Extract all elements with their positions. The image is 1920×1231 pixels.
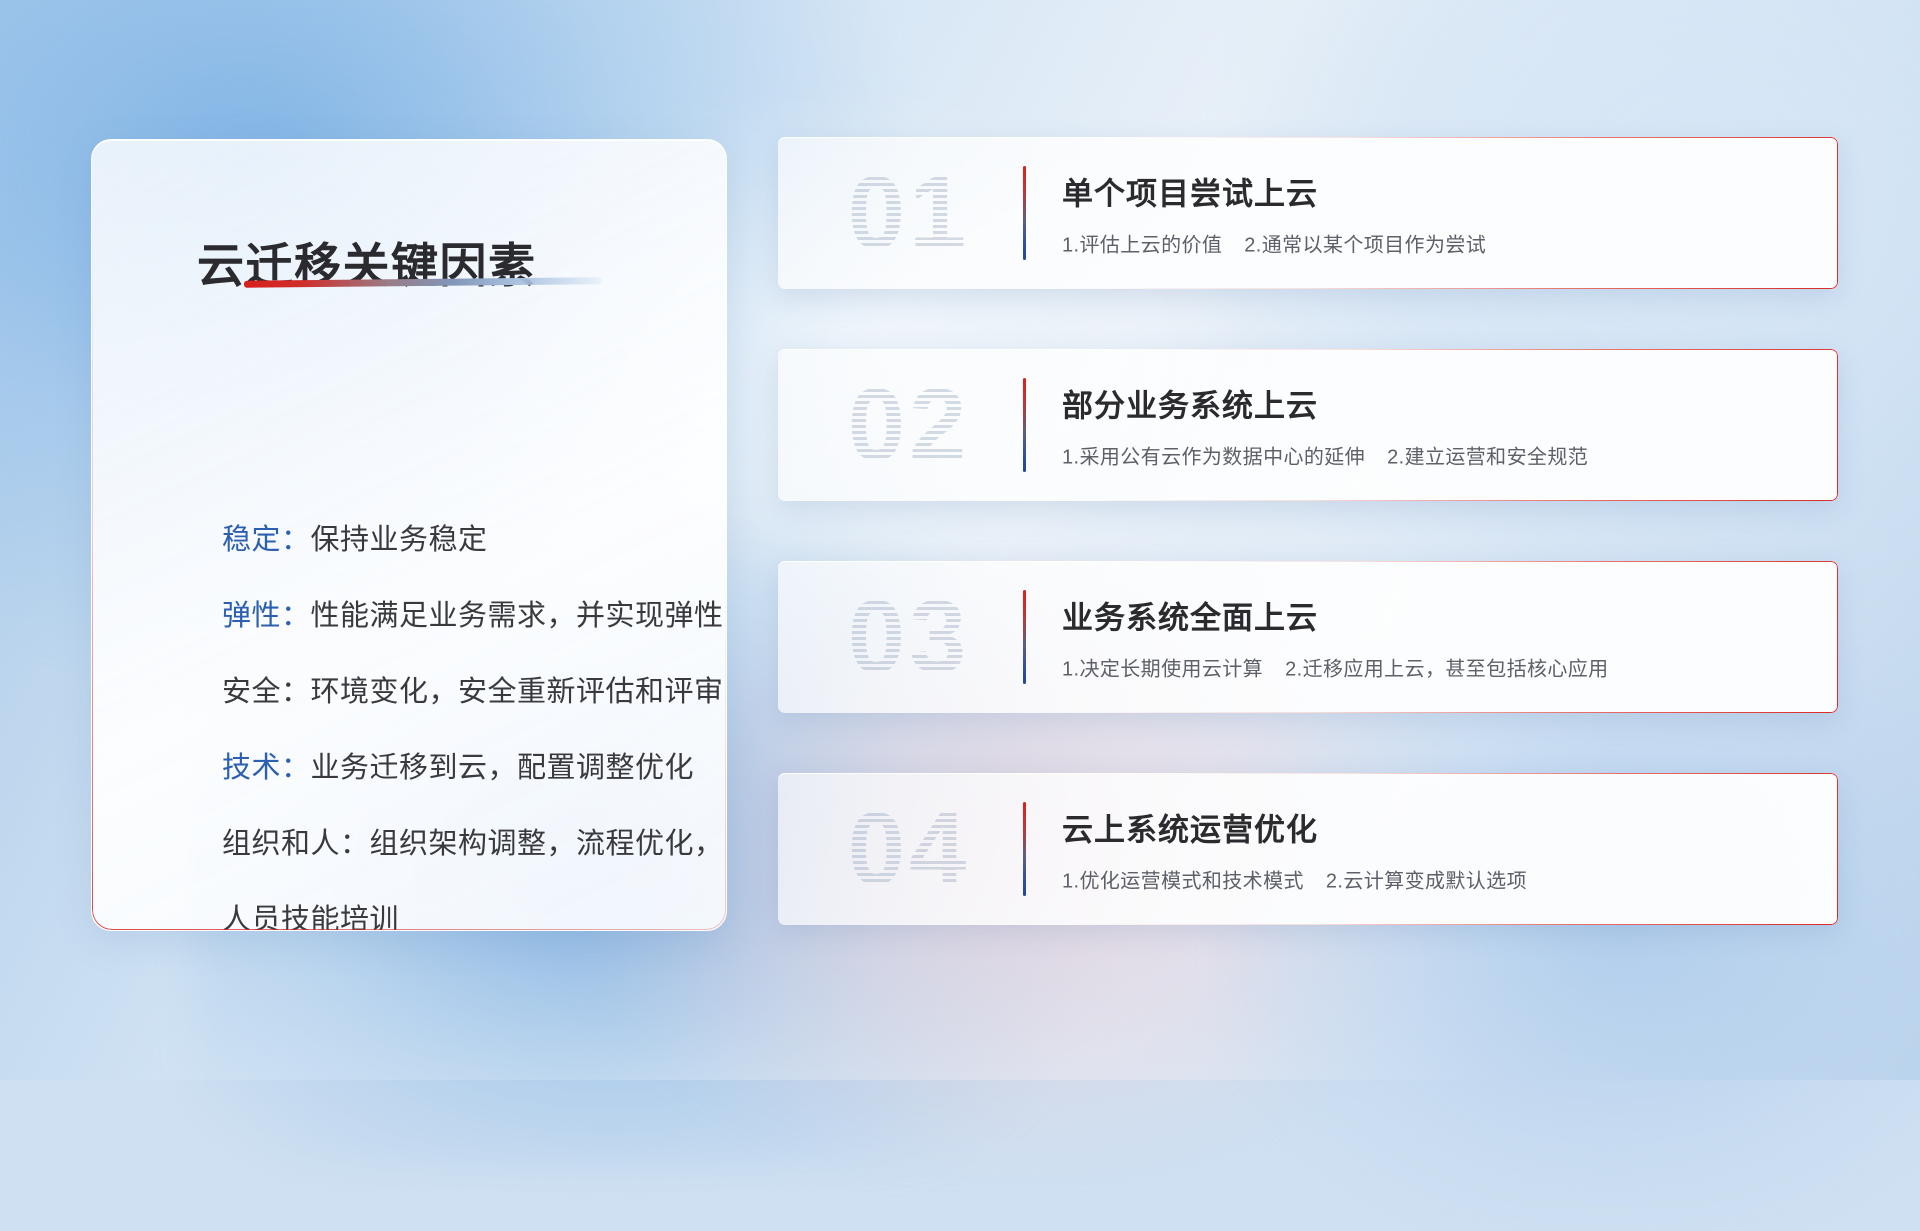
stage-subtitle: 1.采用公有云作为数据中心的延伸2.建立运营和安全规范 [1062,441,1802,470]
stage-point-2: 2.通常以某个项目作为尝试 [1244,235,1486,257]
key-factor-text: 保持业务稳定 [311,524,488,556]
stage-title: 部分业务系统上云 [1062,381,1802,426]
stage-divider-bar [1023,166,1026,260]
stage-card-list: 01单个项目尝试上云1.评估上云的价值2.通常以某个项目作为尝试02部分业务系统… [778,137,1838,925]
key-factor-label: 技术： [222,752,311,784]
key-factors-panel: 云迁移关键因素 稳定：保持业务稳定弹性：性能满足业务需求，并实现弹性安全：环境变… [91,139,727,931]
stage-card[interactable]: 04云上系统运营优化1.优化运营模式和技术模式2.云计算变成默认选项 [778,773,1838,925]
stage-subtitle: 1.评估上云的价值2.通常以某个项目作为尝试 [1062,229,1802,258]
key-factor-label: 稳定： [222,524,311,556]
stage-number: 04 [814,789,1004,909]
key-factor-text: 环境变化，安全重新评估和评审 [311,676,724,708]
stage-card-body: 部分业务系统上云1.采用公有云作为数据中心的延伸2.建立运营和安全规范 [1062,381,1802,470]
key-factors-list: 稳定：保持业务稳定弹性：性能满足业务需求，并实现弹性安全：环境变化，安全重新评估… [222,526,692,931]
stage-divider-bar [1023,802,1026,896]
key-factor-line: 人员技能培训 [222,906,692,931]
stage-number: 01 [814,153,1004,273]
stage-number: 02 [814,365,1004,485]
key-factor-line: 技术：业务迁移到云，配置调整优化 [222,754,692,783]
stage-card[interactable]: 03业务系统全面上云1.决定长期使用云计算2.迁移应用上云，甚至包括核心应用 [778,561,1838,713]
stage-card-body: 云上系统运营优化1.优化运营模式和技术模式2.云计算变成默认选项 [1062,805,1802,894]
stage-point-2: 2.迁移应用上云，甚至包括核心应用 [1285,659,1608,681]
key-factor-label: 弹性： [222,600,311,632]
stage-card-body: 单个项目尝试上云1.评估上云的价值2.通常以某个项目作为尝试 [1062,169,1802,258]
stage-title: 业务系统全面上云 [1062,593,1802,638]
stage-title: 云上系统运营优化 [1062,805,1802,850]
stage-divider-bar [1023,590,1026,684]
stage-subtitle: 1.决定长期使用云计算2.迁移应用上云，甚至包括核心应用 [1062,653,1802,682]
stage-point-1: 1.决定长期使用云计算 [1062,659,1263,681]
stage-point-2: 2.云计算变成默认选项 [1326,871,1527,893]
stage-card-body: 业务系统全面上云1.决定长期使用云计算2.迁移应用上云，甚至包括核心应用 [1062,593,1802,682]
key-factor-label: 安全： [222,676,311,708]
key-factor-line: 组织和人：组织架构调整，流程优化， [222,830,692,859]
key-factor-text: 性能满足业务需求，并实现弹性 [311,600,724,632]
key-factor-line: 弹性：性能满足业务需求，并实现弹性 [222,602,692,631]
stage-divider-bar [1023,378,1026,472]
stage-point-1: 1.优化运营模式和技术模式 [1062,871,1304,893]
slide-stage: 云迁移关键因素 稳定：保持业务稳定弹性：性能满足业务需求，并实现弹性安全：环境变… [0,0,1920,1080]
key-factor-text: 业务迁移到云，配置调整优化 [311,752,695,784]
stage-card[interactable]: 01单个项目尝试上云1.评估上云的价值2.通常以某个项目作为尝试 [778,137,1838,289]
stage-point-1: 1.评估上云的价值 [1062,235,1222,257]
stage-number: 03 [814,577,1004,697]
key-factor-label: 组织和人： [222,828,370,860]
key-factor-text: 组织架构调整，流程优化， [370,828,724,860]
key-factor-line: 稳定：保持业务稳定 [222,526,692,555]
stage-subtitle: 1.优化运营模式和技术模式2.云计算变成默认选项 [1062,865,1802,894]
key-factor-text: 人员技能培训 [222,904,399,931]
key-factor-line: 安全：环境变化，安全重新评估和评审 [222,678,692,707]
stage-title: 单个项目尝试上云 [1062,169,1802,214]
stage-card[interactable]: 02部分业务系统上云1.采用公有云作为数据中心的延伸2.建立运营和安全规范 [778,349,1838,501]
stage-point-1: 1.采用公有云作为数据中心的延伸 [1062,447,1365,469]
stage-point-2: 2.建立运营和安全规范 [1387,447,1588,469]
